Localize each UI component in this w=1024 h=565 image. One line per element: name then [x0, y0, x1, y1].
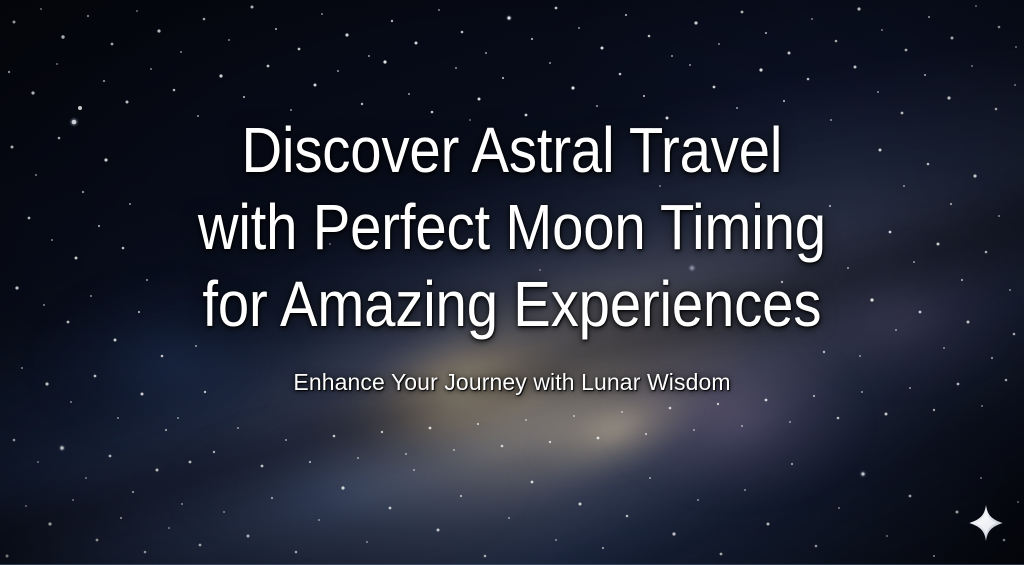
page-title: Discover Astral Travel with Perfect Moon… — [198, 112, 826, 343]
hero-content: Discover Astral Travel with Perfect Moon… — [0, 0, 1024, 565]
hero-banner: Discover Astral Travel with Perfect Moon… — [0, 0, 1024, 565]
headline-line-3: for Amazing Experiences — [198, 266, 826, 343]
four-pointed-sparkle-star-icon — [969, 505, 1002, 541]
headline-line-2: with Perfect Moon Timing — [198, 189, 826, 266]
page-subtitle: Enhance Your Journey with Lunar Wisdom — [293, 369, 730, 396]
sparkle-star-logo[interactable] — [968, 504, 1004, 542]
headline-line-1: Discover Astral Travel — [198, 112, 826, 189]
